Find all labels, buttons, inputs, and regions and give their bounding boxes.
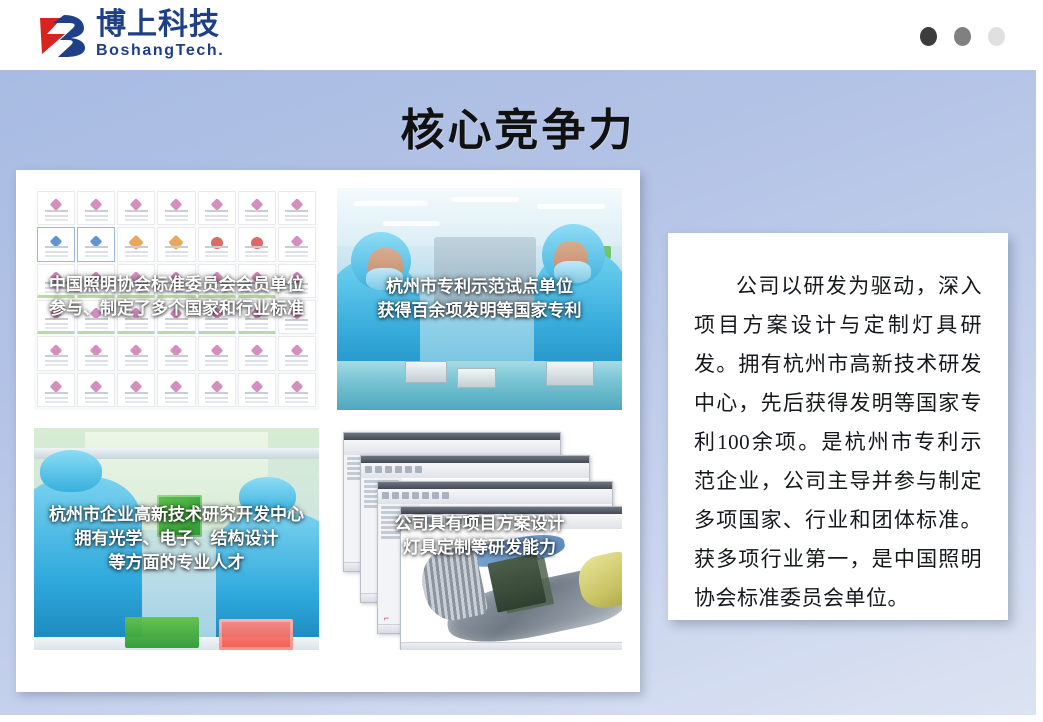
tile-caption-line: 参与、制定了多个国家和行业标准	[38, 297, 315, 321]
page-margin-bottom	[0, 715, 1043, 722]
dot-third[interactable]	[988, 27, 1005, 46]
description-text: 公司以研发为驱动，深入项目方案设计与定制灯具研发。拥有杭州市高新技术研发中心，先…	[694, 267, 982, 618]
page-header: 博上科技 BoshangTech.	[0, 0, 1043, 70]
gallery-tile-certificates[interactable]: 中国照明协会标准委员会会员单位 参与、制定了多个国家和行业标准	[34, 188, 319, 410]
tile-caption-cleanroom: 杭州市专利示范试点单位 获得百余项发明等国家专利	[337, 275, 622, 323]
boshang-b-mark-icon	[38, 12, 88, 58]
tile-caption-line: 获得百余项发明等国家专利	[341, 299, 618, 323]
gallery-tile-rnd-center[interactable]: 杭州市企业高新技术研究开发中心 拥有光学、电子、结构设计 等方面的专业人才	[34, 428, 319, 650]
dot-active[interactable]	[920, 27, 937, 46]
tile-caption-line: 拥有光学、电子、结构设计	[38, 527, 315, 551]
gallery-tile-cleanroom[interactable]: 杭州市专利示范试点单位 获得百余项发明等国家专利	[337, 188, 622, 410]
page-title: 核心竞争力	[0, 94, 1036, 158]
logo-english-name: BoshangTech.	[96, 42, 224, 60]
tile-caption-line: 公司具有项目方案设计	[341, 512, 618, 536]
tile-caption-cad-design: 公司具有项目方案设计 灯具定制等研发能力	[337, 512, 622, 560]
tile-caption-line: 中国照明协会标准委员会会员单位	[38, 273, 315, 297]
tile-caption-rnd-center: 杭州市企业高新技术研究开发中心 拥有光学、电子、结构设计 等方面的专业人才	[34, 503, 319, 575]
logo-chinese-name: 博上科技	[96, 10, 224, 41]
slide-stage: 核心竞争力	[0, 70, 1036, 715]
logo-text-block: 博上科技 BoshangTech.	[96, 10, 224, 59]
page-margin-right	[1036, 0, 1043, 722]
gallery-grid: 中国照明协会标准委员会会员单位 参与、制定了多个国家和行业标准	[34, 188, 622, 658]
slide-root: 博上科技 BoshangTech. 核心竞争力	[0, 0, 1043, 722]
carousel-indicator[interactable]	[920, 27, 1005, 46]
tile-caption-line: 灯具定制等研发能力	[341, 536, 618, 560]
gallery-tile-cad-design[interactable]: ⌐	[337, 428, 622, 650]
tile-caption-certificates: 中国照明协会标准委员会会员单位 参与、制定了多个国家和行业标准	[34, 273, 319, 321]
gallery-card: 中国照明协会标准委员会会员单位 参与、制定了多个国家和行业标准	[16, 170, 640, 692]
tile-caption-line: 杭州市企业高新技术研究开发中心	[38, 503, 315, 527]
dot-second[interactable]	[954, 27, 971, 46]
company-logo[interactable]: 博上科技 BoshangTech.	[38, 10, 224, 59]
tile-caption-line: 杭州市专利示范试点单位	[341, 275, 618, 299]
tile-caption-line: 等方面的专业人才	[38, 551, 315, 575]
description-panel: 公司以研发为驱动，深入项目方案设计与定制灯具研发。拥有杭州市高新技术研发中心，先…	[668, 233, 1008, 620]
